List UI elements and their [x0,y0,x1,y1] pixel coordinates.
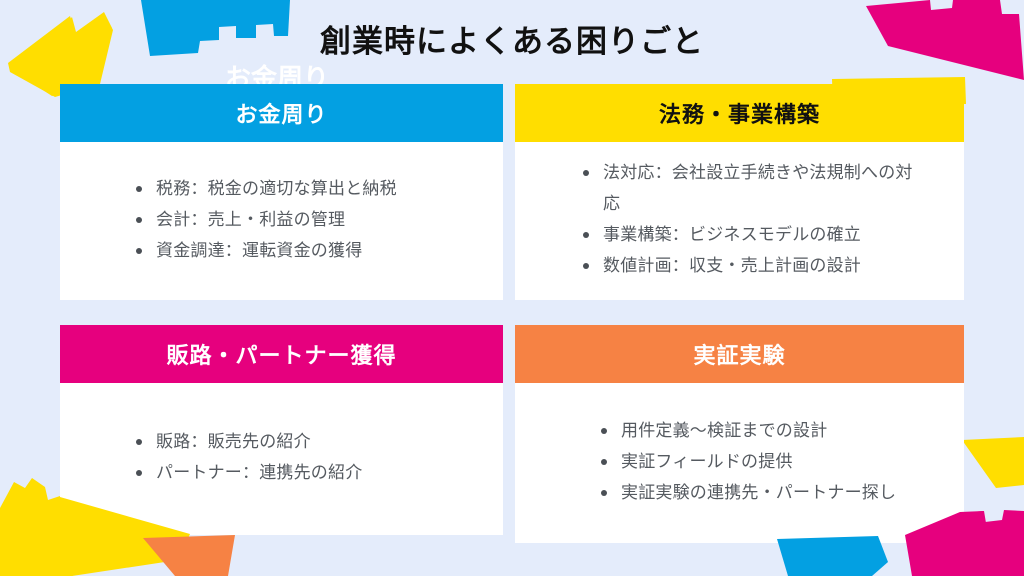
deco-svg-front [0,0,1024,576]
shape-magenta-bottom-right-front [905,511,1024,576]
shape-blue-bottom-right [777,536,888,576]
shape-yellow-bottom-tail [0,497,190,576]
decorative-shapes-foreground [0,0,1024,576]
